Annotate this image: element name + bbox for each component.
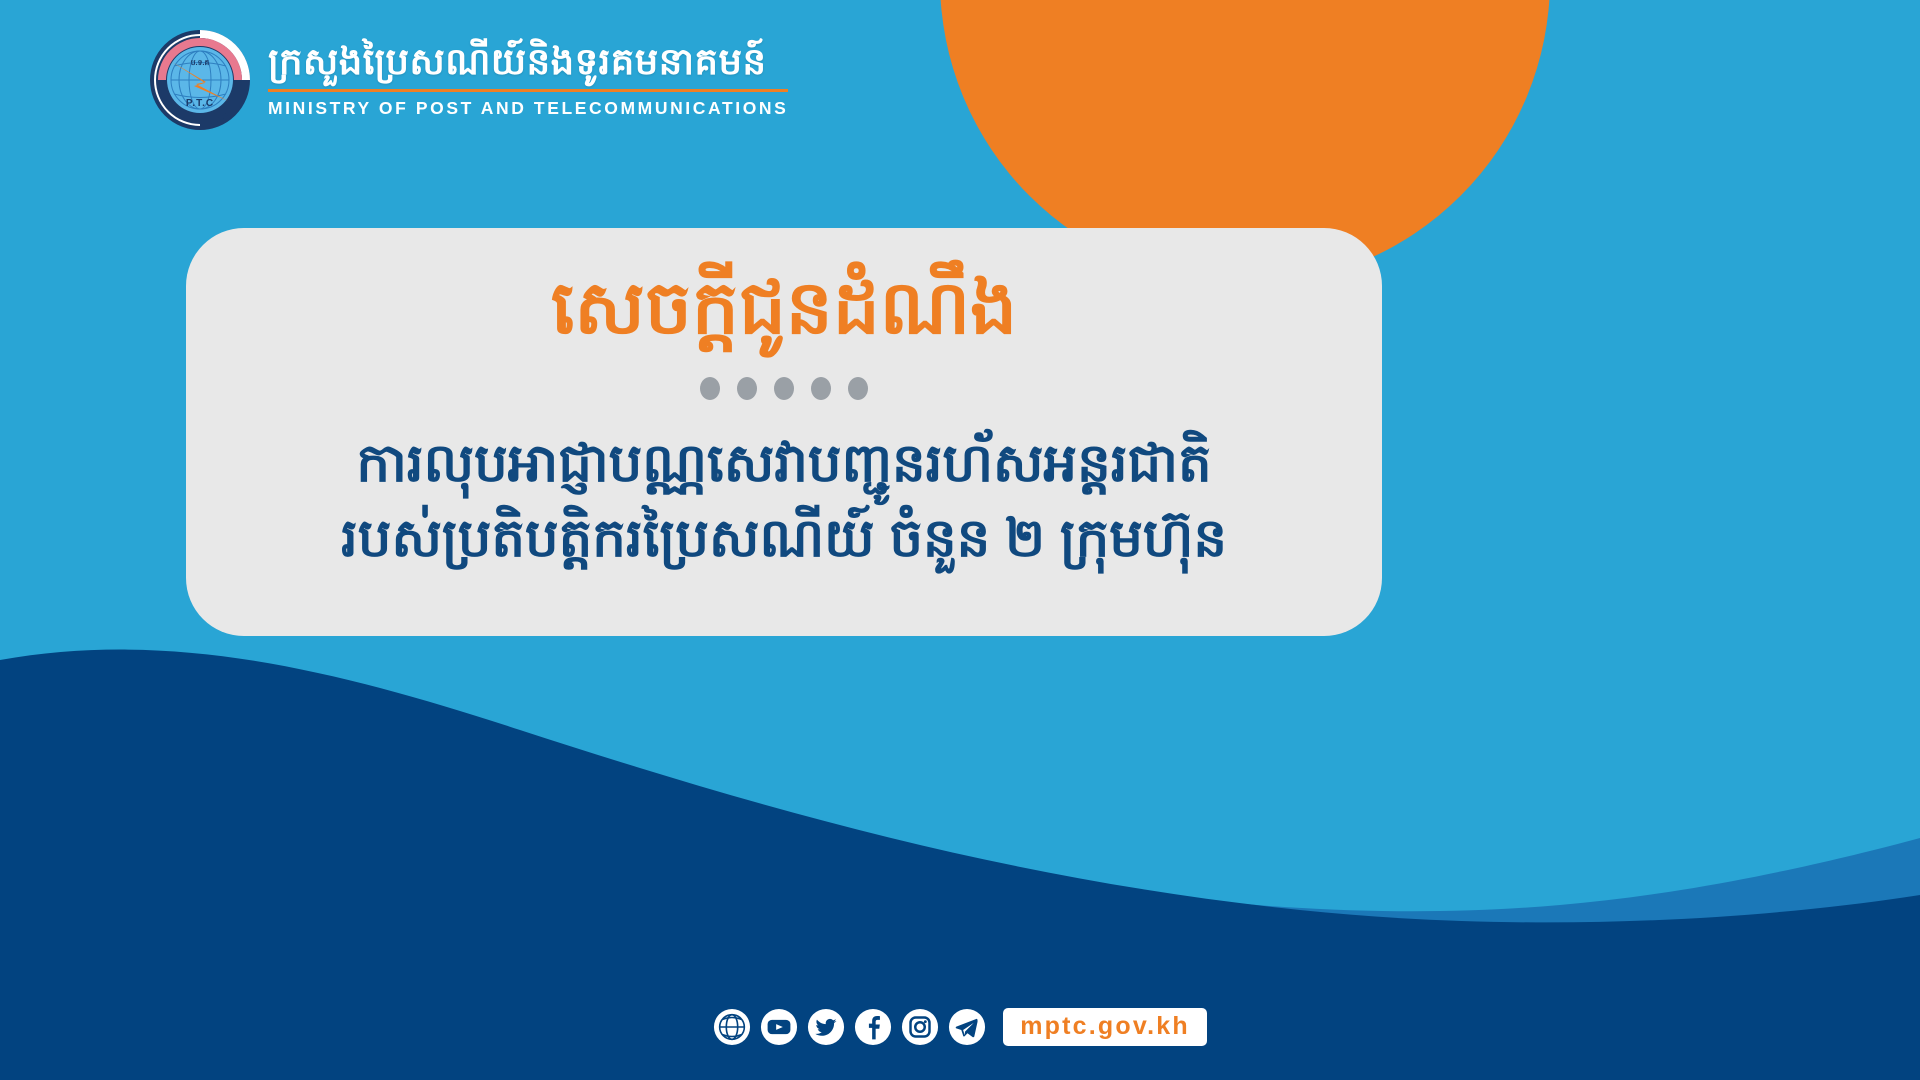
dots-separator — [700, 377, 868, 400]
separator-dot — [737, 377, 757, 400]
social-footer: mptc.gov.kh — [0, 1008, 1920, 1046]
announcement-body: ការលុបអាជ្ញាបណ្ណសេវាបញ្ជូនរហ័សអន្តរជាតិ … — [341, 426, 1227, 577]
ministry-name-block: ក្រសួងប្រៃសណីយ៍និងទូរគមនាគមន៍ MINISTRY O… — [268, 41, 788, 119]
facebook-icon[interactable] — [854, 1008, 892, 1046]
announcement-body-line-1: ការលុបអាជ្ញាបណ្ណសេវាបញ្ជូនរហ័សអន្តរជាតិ — [341, 426, 1227, 501]
announcement-body-line-2: របស់ប្រតិបត្តិករប្រៃសណីយ៍ ចំនួន ២ ក្រុមហ… — [341, 501, 1227, 576]
logo-kh-abbrev: ប.ទ.គ — [191, 58, 210, 67]
separator-dot — [811, 377, 831, 400]
separator-dot — [774, 377, 794, 400]
separator-dot — [848, 377, 868, 400]
announcement-title: សេចក្តីជូនដំណឹង — [551, 262, 1017, 355]
logo-ptc-text: P.T.C — [186, 98, 214, 109]
telegram-icon[interactable] — [948, 1008, 986, 1046]
ministry-name-divider — [268, 89, 788, 92]
ptc-ministry-logo: ប.ទ.គ P.T.C — [150, 30, 250, 130]
instagram-icon[interactable] — [901, 1008, 939, 1046]
website-globe-icon[interactable] — [713, 1008, 751, 1046]
separator-dot — [700, 377, 720, 400]
announcement-card: សេចក្តីជូនដំណឹង ការលុបអាជ្ញាបណ្ណសេវាបញ្ជ… — [186, 228, 1382, 636]
ministry-name-english: MINISTRY OF POST AND TELECOMMUNICATIONS — [268, 98, 788, 119]
poster-canvas: ប.ទ.គ P.T.C ក្រសួងប្រៃសណីយ៍និងទូរគមនាគមន… — [0, 0, 1920, 1080]
website-url-badge[interactable]: mptc.gov.kh — [1003, 1008, 1207, 1045]
youtube-icon[interactable] — [760, 1008, 798, 1046]
brand-header: ប.ទ.គ P.T.C ក្រសួងប្រៃសណីយ៍និងទូរគមនាគមន… — [150, 30, 788, 130]
twitter-icon[interactable] — [807, 1008, 845, 1046]
ministry-name-khmer: ក្រសួងប្រៃសណីយ៍និងទូរគមនាគមន៍ — [268, 41, 788, 84]
